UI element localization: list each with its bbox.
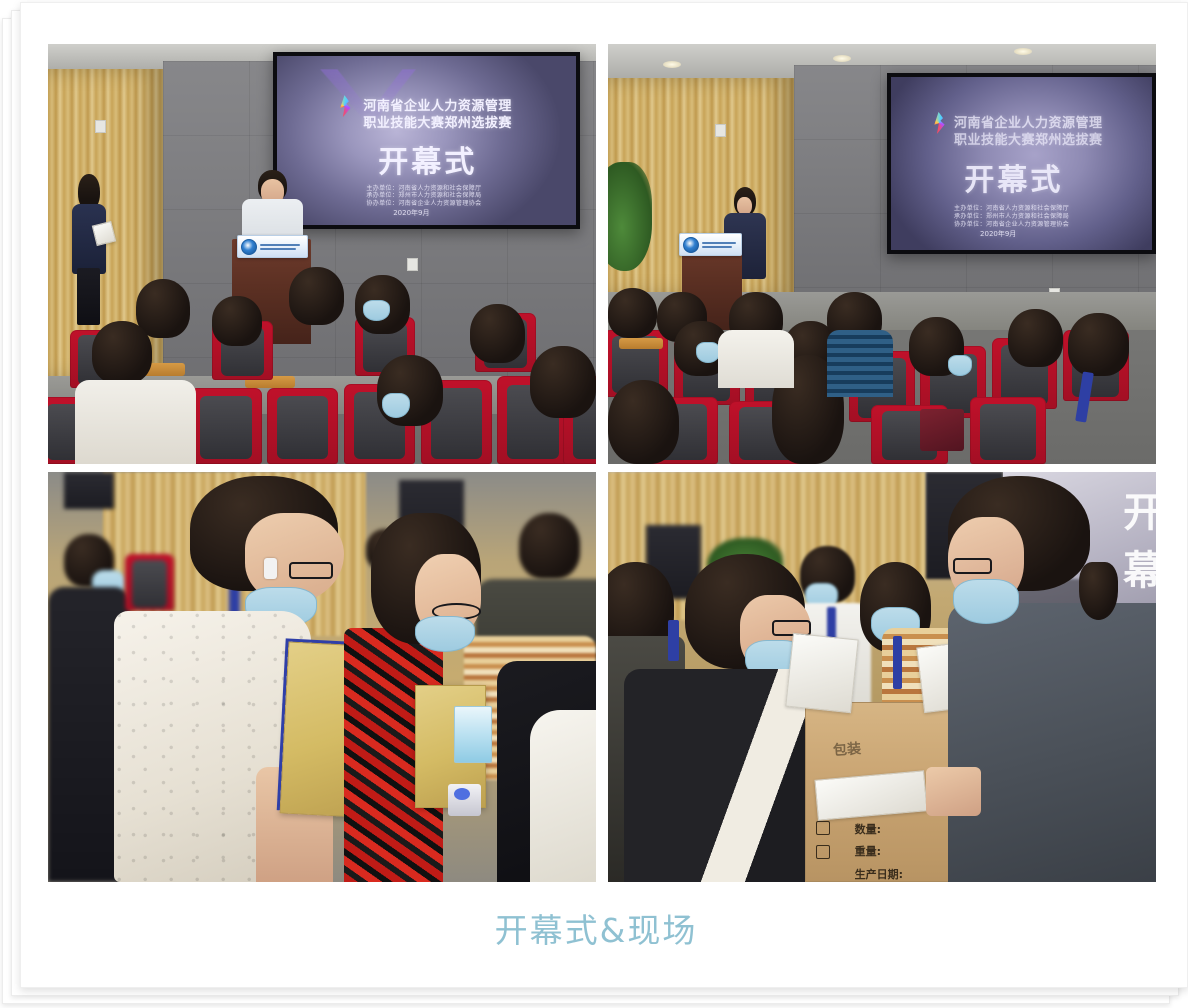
white-bag-strap	[530, 710, 596, 882]
photo-top-left[interactable]: 河南省企业人力资源管理 职业技能大赛郑州选拔赛 开幕式 主办单位：河南省人力资源…	[48, 44, 596, 464]
podium-emblem-icon	[241, 239, 257, 255]
audience-shoulders	[718, 330, 795, 389]
photo-bottom-left[interactable]	[48, 472, 596, 882]
screen-heading-line2: 职业技能大赛郑州选拔赛	[954, 129, 1103, 148]
podium-sign	[679, 233, 742, 256]
thermometer-indicator-icon	[454, 788, 470, 800]
audience-shoulders	[75, 380, 196, 464]
wall-switch-icon	[407, 258, 418, 271]
this-side-up-icon	[816, 845, 830, 859]
podium-emblem-icon	[683, 237, 699, 253]
audience-head	[608, 380, 679, 464]
ceiling-light-icon	[663, 61, 681, 68]
audience-head	[136, 279, 191, 338]
audience-head	[289, 267, 344, 326]
photo-grid: 河南省企业人力资源管理 职业技能大赛郑州选拔赛 开幕式 主办单位：河南省人力资源…	[48, 44, 1156, 882]
carton-label-quantity: 数量:	[855, 821, 881, 837]
podium-sign-text	[260, 244, 300, 250]
fragile-icon	[816, 821, 830, 835]
earbud-icon	[264, 558, 276, 579]
screen-date: 2020年9月	[980, 229, 1016, 239]
auditorium-seat	[125, 554, 174, 611]
audience-head	[92, 321, 152, 384]
potted-plant	[608, 162, 652, 271]
projector-screen: 河南省企业人力资源管理 职业技能大赛郑州选拔赛 开幕式 主办单位：河南省人力资源…	[887, 73, 1156, 254]
carton-label-production-date: 生产日期:	[855, 866, 903, 882]
auditorium-seat	[970, 397, 1047, 464]
audience-head	[470, 304, 525, 363]
photo-bottom-right[interactable]: 开幕	[608, 472, 1156, 882]
carton-hanzi: 包装	[832, 738, 861, 760]
wall-monitor	[64, 472, 113, 509]
audience-head	[608, 288, 657, 338]
standing-host	[70, 174, 108, 325]
seat-armrest	[619, 338, 663, 349]
id-badge	[454, 706, 492, 763]
wall-switch-icon	[715, 124, 726, 137]
screen-heading-line2: 职业技能大赛郑州选拔赛	[363, 112, 512, 131]
ceiling-light-icon	[1014, 48, 1032, 55]
audience-head	[530, 346, 596, 417]
screen-heading-line1: 河南省企业人力资源管理	[954, 112, 1103, 131]
background-person-head	[519, 513, 579, 579]
audience-head	[1068, 313, 1128, 376]
face-mask-icon	[953, 579, 1019, 624]
photo-top-right[interactable]: 河南省企业人力资源管理 职业技能大赛郑州选拔赛 开幕式 主办单位：河南省人力资源…	[608, 44, 1156, 464]
ceiling-light-icon	[833, 55, 851, 62]
wall-switch-icon	[95, 120, 106, 133]
auditorium-seat	[190, 388, 261, 464]
carton-label-weight: 重量:	[855, 843, 881, 859]
striped-polo	[827, 330, 893, 397]
screen-subtext-line3: 协办单位：河南省企业人力资源管理协会	[366, 198, 481, 207]
gallery-caption: 开幕式&现场	[28, 904, 1164, 952]
handout-paper	[785, 633, 858, 713]
ponytail	[1079, 562, 1117, 619]
glasses-icon	[953, 558, 991, 574]
host-trousers	[77, 268, 100, 325]
glasses-icon	[289, 562, 333, 578]
screen-date: 2020年9月	[393, 208, 429, 218]
handbag	[920, 409, 964, 451]
auditorium-seat	[267, 388, 338, 464]
screen-title: 开幕式	[378, 137, 477, 181]
foreground-man-hand	[926, 767, 981, 816]
backdrop-text: 开幕	[1123, 480, 1156, 596]
competition-logo-icon	[931, 112, 947, 134]
audience-head	[212, 296, 261, 346]
foreground-man-denim-jacket	[948, 603, 1156, 882]
lanyard	[893, 636, 902, 689]
face-mask-icon	[382, 393, 409, 418]
projector-screen-surface: 河南省企业人力资源管理 职业技能大赛郑州选拔赛 开幕式 主办单位：河南省人力资源…	[891, 77, 1152, 250]
gallery-card: 河南省企业人力资源管理 职业技能大赛郑州选拔赛 开幕式 主办单位：河南省人力资源…	[28, 24, 1164, 964]
projector-screen-surface: 河南省企业人力资源管理 职业技能大赛郑州选拔赛 开幕式 主办单位：河南省人力资源…	[277, 56, 576, 224]
screen-title: 开幕式	[964, 155, 1063, 199]
page-root: 河南省企业人力资源管理 职业技能大赛郑州选拔赛 开幕式 主办单位：河南省人力资源…	[0, 0, 1188, 1008]
podium-sign	[237, 235, 308, 258]
audience-head	[1008, 309, 1063, 368]
audience-head	[377, 355, 443, 426]
screen-subtext-line3: 协办单位：河南省企业人力资源管理协会	[954, 219, 1069, 228]
lanyard	[668, 620, 679, 661]
face-mask-icon	[948, 355, 973, 376]
projector-screen: 河南省企业人力资源管理 职业技能大赛郑州选拔赛 开幕式 主办单位：河南省人力资源…	[273, 52, 580, 228]
podium-sign-text	[702, 242, 736, 248]
